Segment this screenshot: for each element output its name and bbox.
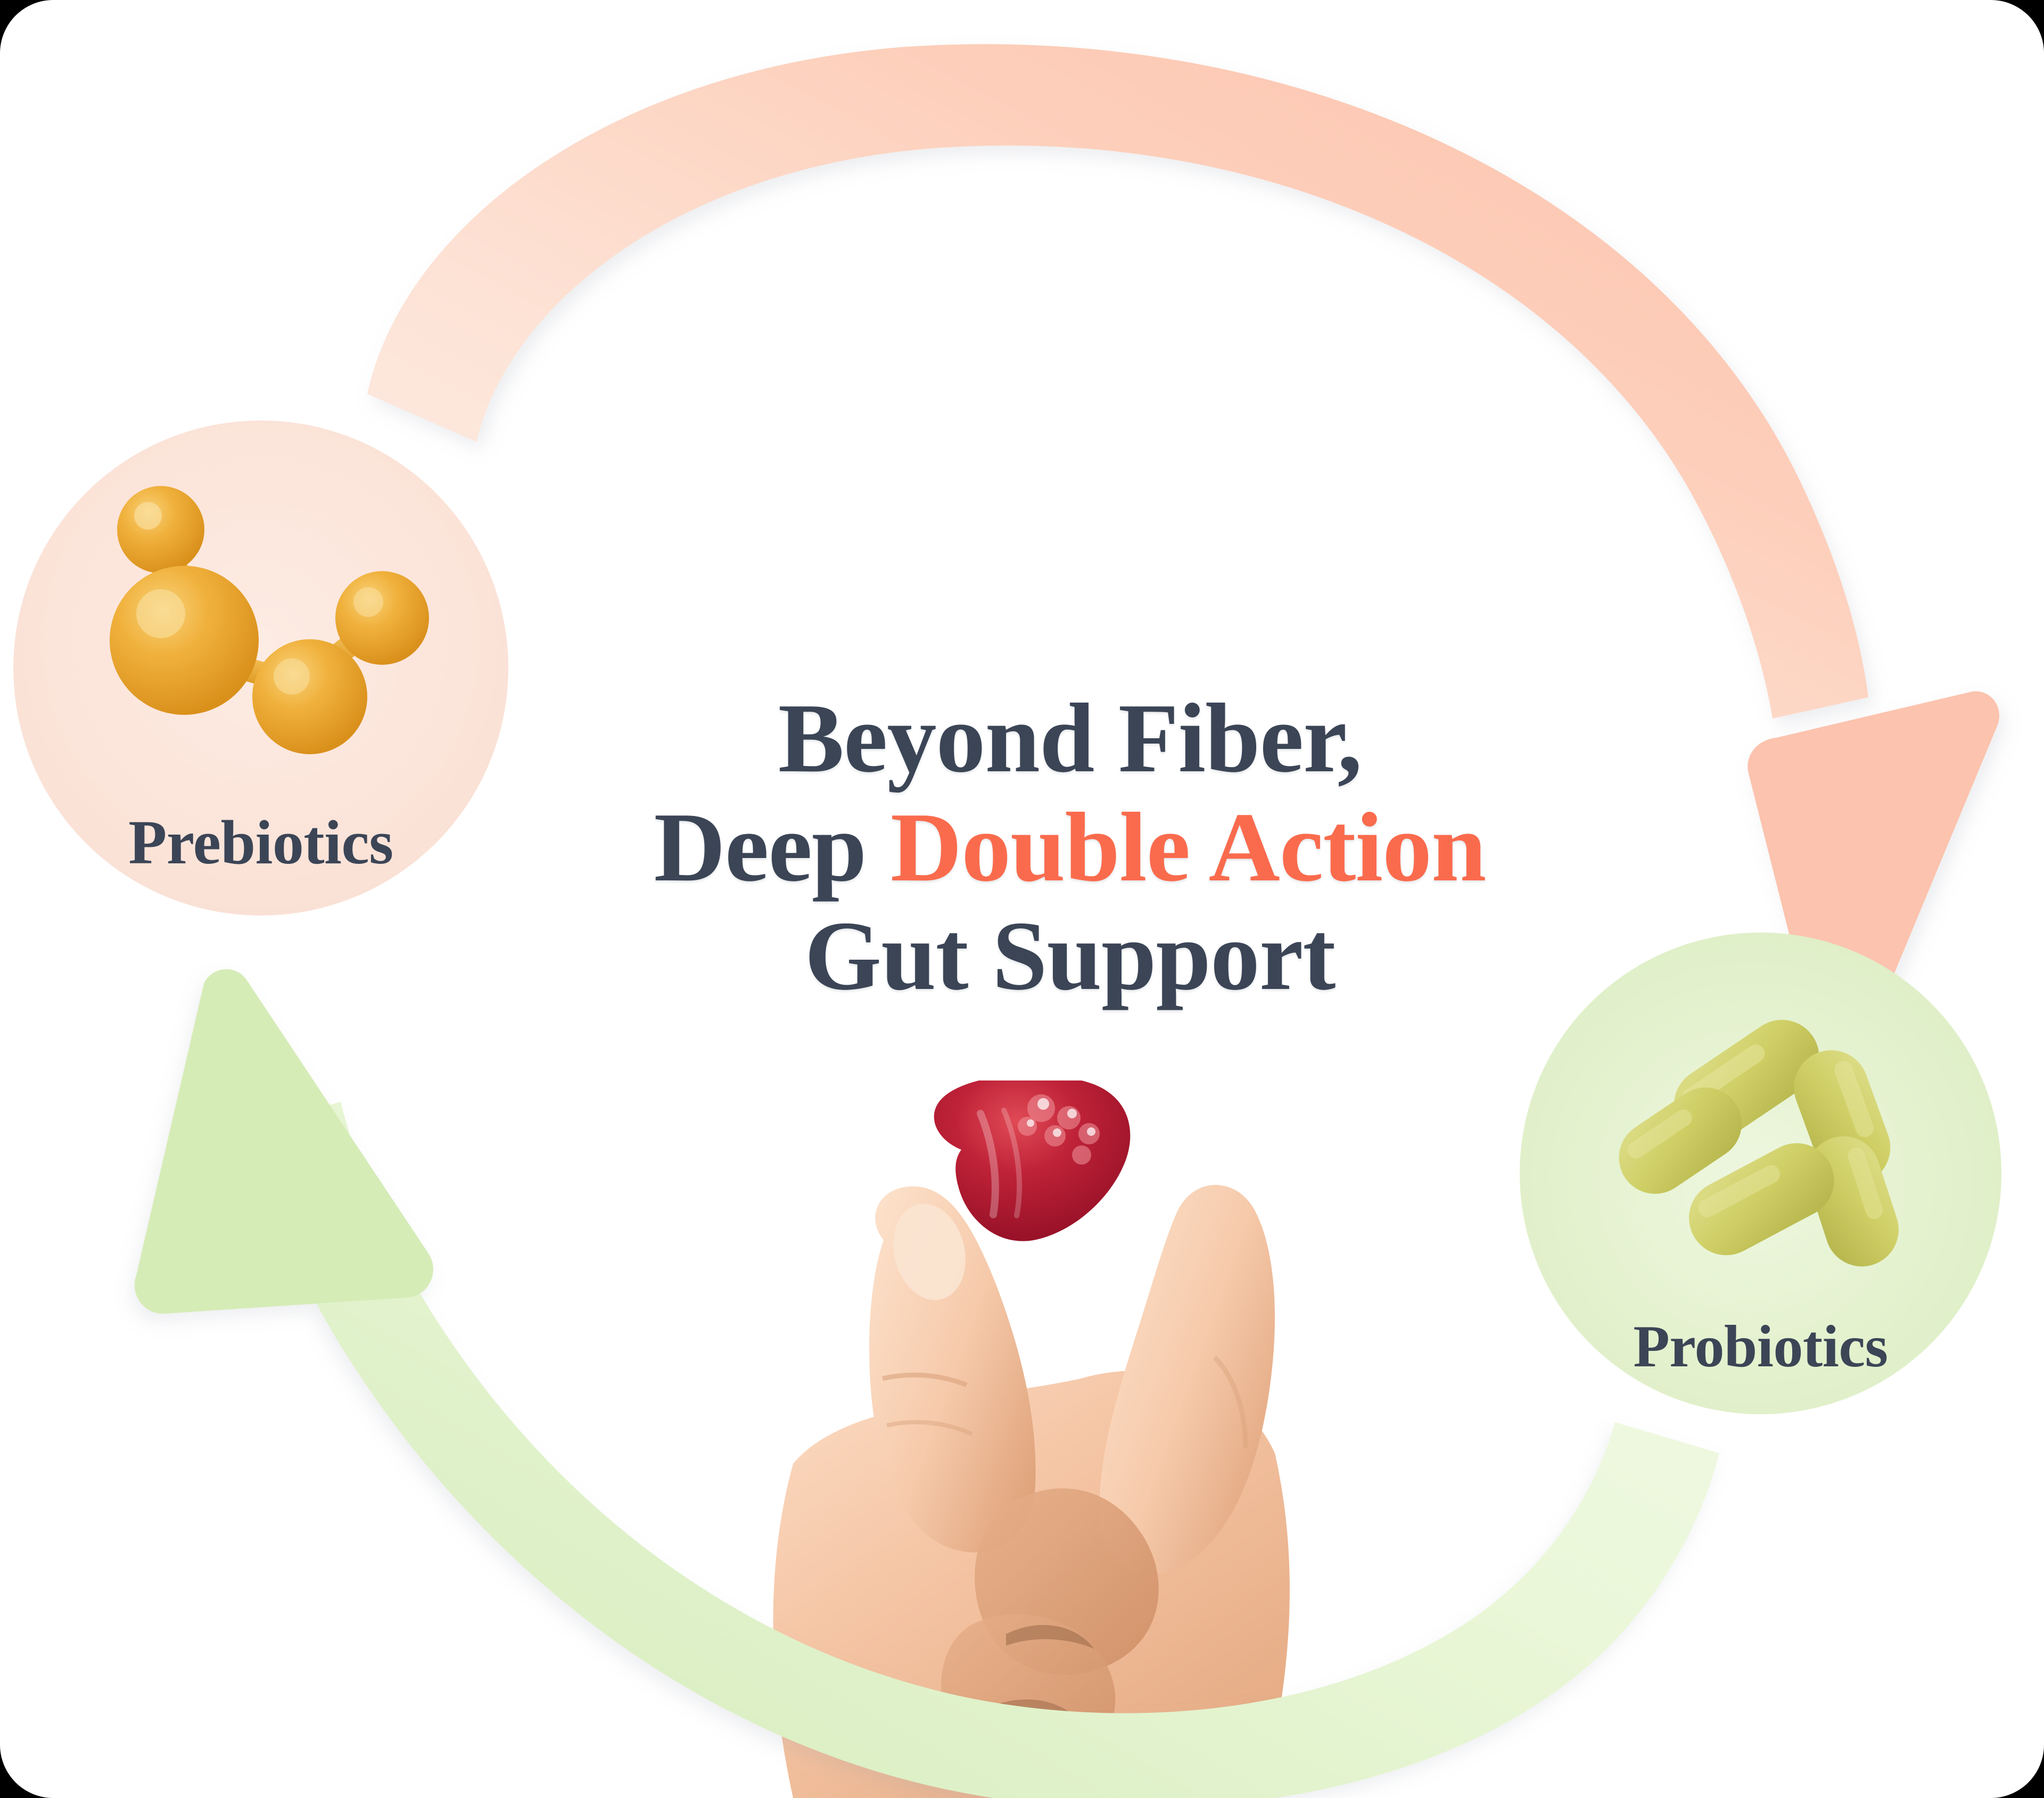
page-title: Beyond Fiber, Deep Double Action Gut Sup…	[564, 684, 1576, 1011]
headline-line-3: Gut Support	[564, 902, 1576, 1011]
headline-line-2: Deep Double Action	[564, 793, 1576, 902]
arrow-shaft-green	[250, 1102, 1719, 1798]
headline-line-2-prefix: Deep	[654, 793, 890, 902]
headline-accent: Double Action	[891, 793, 1486, 902]
promo-graphic-canvas: Prebiotics	[0, 0, 2044, 1798]
headline-line-1: Beyond Fiber,	[564, 684, 1576, 793]
arrow-head-green	[135, 969, 433, 1314]
